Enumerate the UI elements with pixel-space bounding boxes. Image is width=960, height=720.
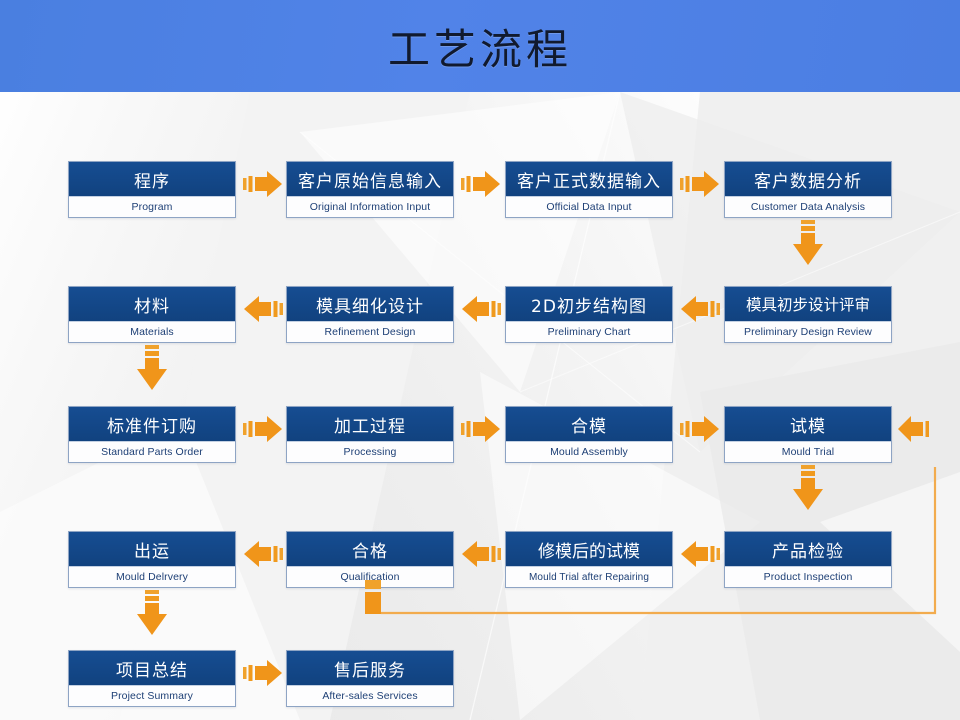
arrow-right-row3-1 (243, 414, 283, 444)
slide-root: 工艺流程 (0, 0, 960, 720)
flow-node-title-en: After-sales Services (287, 685, 453, 706)
flow-node-customer-data-analysis[interactable]: 客户数据分析 Customer Data Analysis (724, 161, 892, 218)
flow-node-project-summary[interactable]: 项目总结 Project Summary (68, 650, 236, 707)
flow-node-title-cn: 模具初步设计评审 (725, 287, 891, 321)
flow-node-title-cn: 合模 (506, 407, 672, 441)
arrow-down-row3-to-row4 (790, 465, 826, 513)
flow-node-official-data-input[interactable]: 客户正式数据输入 Official Data Input (505, 161, 673, 218)
flow-node-after-sales-services[interactable]: 售后服务 After-sales Services (286, 650, 454, 707)
flow-node-qualification[interactable]: 合格 Qualification (286, 531, 454, 588)
flow-node-title-cn: 2D初步结构图 (506, 287, 672, 321)
flow-node-title-cn: 产品检验 (725, 532, 891, 566)
flow-node-title-cn: 合格 (287, 532, 453, 566)
flow-node-title-en: Processing (287, 441, 453, 462)
flow-node-mould-assembly[interactable]: 合模 Mould Assembly (505, 406, 673, 463)
arrow-left-row2-3 (680, 294, 720, 324)
flow-node-title-en: Original Information Input (287, 196, 453, 217)
flow-node-title-cn: 客户数据分析 (725, 162, 891, 196)
page-title: 工艺流程 (0, 0, 960, 92)
flow-node-title-cn: 试模 (725, 407, 891, 441)
arrow-down-row2-to-row3 (134, 345, 170, 393)
flow-node-title-cn: 出运 (69, 532, 235, 566)
flow-node-mould-delivery[interactable]: 出运 Mould Delrvery (68, 531, 236, 588)
flow-node-processing[interactable]: 加工过程 Processing (286, 406, 454, 463)
arrow-left-row4-1 (243, 539, 283, 569)
arrow-right-row3-2 (461, 414, 501, 444)
flow-node-title-en: Program (69, 196, 235, 217)
flow-node-product-inspection[interactable]: 产品检验 Product Inspection (724, 531, 892, 588)
flow-node-title-en: Materials (69, 321, 235, 342)
flow-node-title-en: Mould Trial after Repairing (506, 566, 672, 587)
arrow-right-row5-1 (243, 658, 283, 688)
arrow-left-row2-2 (461, 294, 501, 324)
flow-node-original-information-input[interactable]: 客户原始信息输入 Original Information Input (286, 161, 454, 218)
flow-node-title-en: Mould Trial (725, 441, 891, 462)
flow-node-title-cn: 加工过程 (287, 407, 453, 441)
flow-node-title-cn: 客户正式数据输入 (506, 162, 672, 196)
flow-node-standard-parts-order[interactable]: 标准件订购 Standard Parts Order (68, 406, 236, 463)
flow-node-title-en: Product Inspection (725, 566, 891, 587)
arrow-left-feedback-into-mould-trial (897, 414, 935, 444)
flow-node-title-cn: 项目总结 (69, 651, 235, 685)
flow-node-title-cn: 模具细化设计 (287, 287, 453, 321)
flow-node-title-cn: 客户原始信息输入 (287, 162, 453, 196)
flow-node-program[interactable]: 程序 Program (68, 161, 236, 218)
flow-node-title-en: Standard Parts Order (69, 441, 235, 462)
flow-node-materials[interactable]: 材料 Materials (68, 286, 236, 343)
flow-node-title-en: Preliminary Design Review (725, 321, 891, 342)
flow-node-preliminary-chart[interactable]: 2D初步结构图 Preliminary Chart (505, 286, 673, 343)
flow-node-title-en: Mould Assembly (506, 441, 672, 462)
flow-node-title-en: Mould Delrvery (69, 566, 235, 587)
arrow-right-row1-3 (680, 169, 720, 199)
flow-node-title-en: Qualification (287, 566, 453, 587)
flow-node-title-en: Preliminary Chart (506, 321, 672, 342)
flow-node-title-cn: 修模后的试模 (506, 532, 672, 566)
flow-node-title-cn: 售后服务 (287, 651, 453, 685)
flow-node-title-en: Refinement Design (287, 321, 453, 342)
flow-node-mould-trial-after-repairing[interactable]: 修模后的试模 Mould Trial after Repairing (505, 531, 673, 588)
flow-node-mould-trial[interactable]: 试模 Mould Trial (724, 406, 892, 463)
flow-node-refinement-design[interactable]: 模具细化设计 Refinement Design (286, 286, 454, 343)
arrow-down-row1-to-row2 (790, 220, 826, 268)
flow-canvas: 程序 Program 客户原始信息输入 Original Information… (0, 92, 960, 720)
arrow-down-row4-to-row5 (134, 590, 170, 638)
flow-node-title-en: Project Summary (69, 685, 235, 706)
arrow-left-row4-3 (680, 539, 720, 569)
flow-node-preliminary-design-review[interactable]: 模具初步设计评审 Preliminary Design Review (724, 286, 892, 343)
flow-node-title-cn: 标准件订购 (69, 407, 235, 441)
arrow-right-row3-3 (680, 414, 720, 444)
arrow-right-row1-2 (461, 169, 501, 199)
arrow-left-row2-1 (243, 294, 283, 324)
arrow-left-row4-2 (461, 539, 501, 569)
arrow-right-row1-1 (243, 169, 283, 199)
flow-node-title-en: Customer Data Analysis (725, 196, 891, 217)
flow-node-title-en: Official Data Input (506, 196, 672, 217)
flow-node-title-cn: 材料 (69, 287, 235, 321)
flow-node-title-cn: 程序 (69, 162, 235, 196)
